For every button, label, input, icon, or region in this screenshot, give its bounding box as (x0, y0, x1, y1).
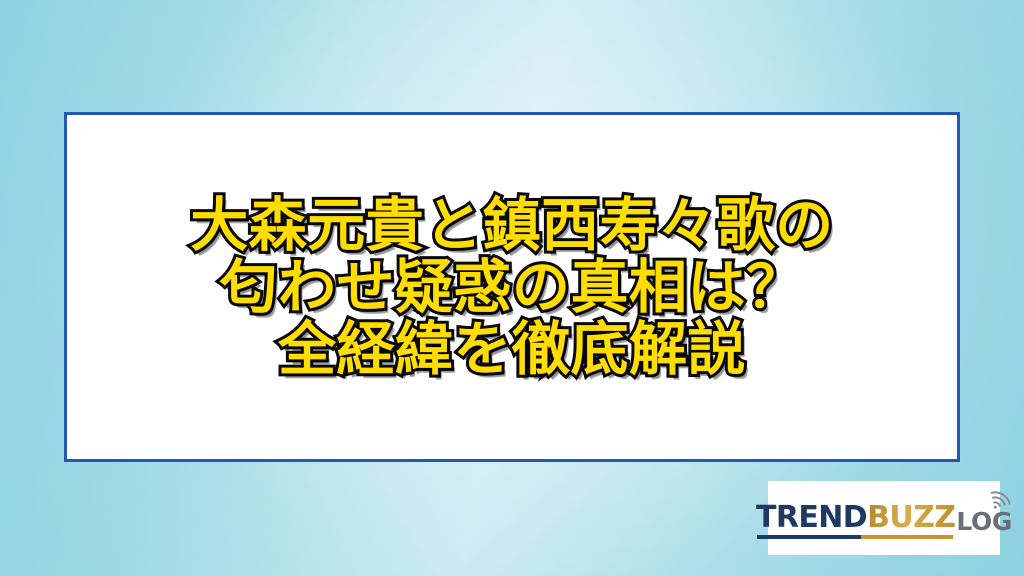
headline-line-1: 大森元貴と鎮西寿々歌の (190, 194, 834, 256)
site-logo: TRENDBUZZ LOG (768, 481, 1000, 555)
headline-line-3: 全経緯を徹底解説 (190, 318, 834, 380)
logo-text-buzz: BUZZ (867, 503, 955, 533)
thumbnail-canvas: 大森元貴と鎮西寿々歌の 匂わせ疑惑の真相は？ 全経緯を徹底解説 TRENDBUZ… (0, 0, 1024, 576)
logo-text-trend: TREND (756, 503, 867, 533)
logo-text-log: LOG (956, 509, 1012, 534)
signal-waves-icon (990, 486, 1016, 510)
headline-line-2: 匂わせ疑惑の真相は？ (190, 256, 834, 318)
page-title: 大森元貴と鎮西寿々歌の 匂わせ疑惑の真相は？ 全経緯を徹底解説 (176, 194, 848, 380)
logo-inner: TRENDBUZZ LOG (756, 503, 1012, 533)
title-card: 大森元貴と鎮西寿々歌の 匂わせ疑惑の真相は？ 全経緯を徹底解説 (64, 112, 960, 462)
logo-wordmark: TRENDBUZZ (756, 503, 955, 533)
logo-underline-bar (757, 535, 953, 539)
